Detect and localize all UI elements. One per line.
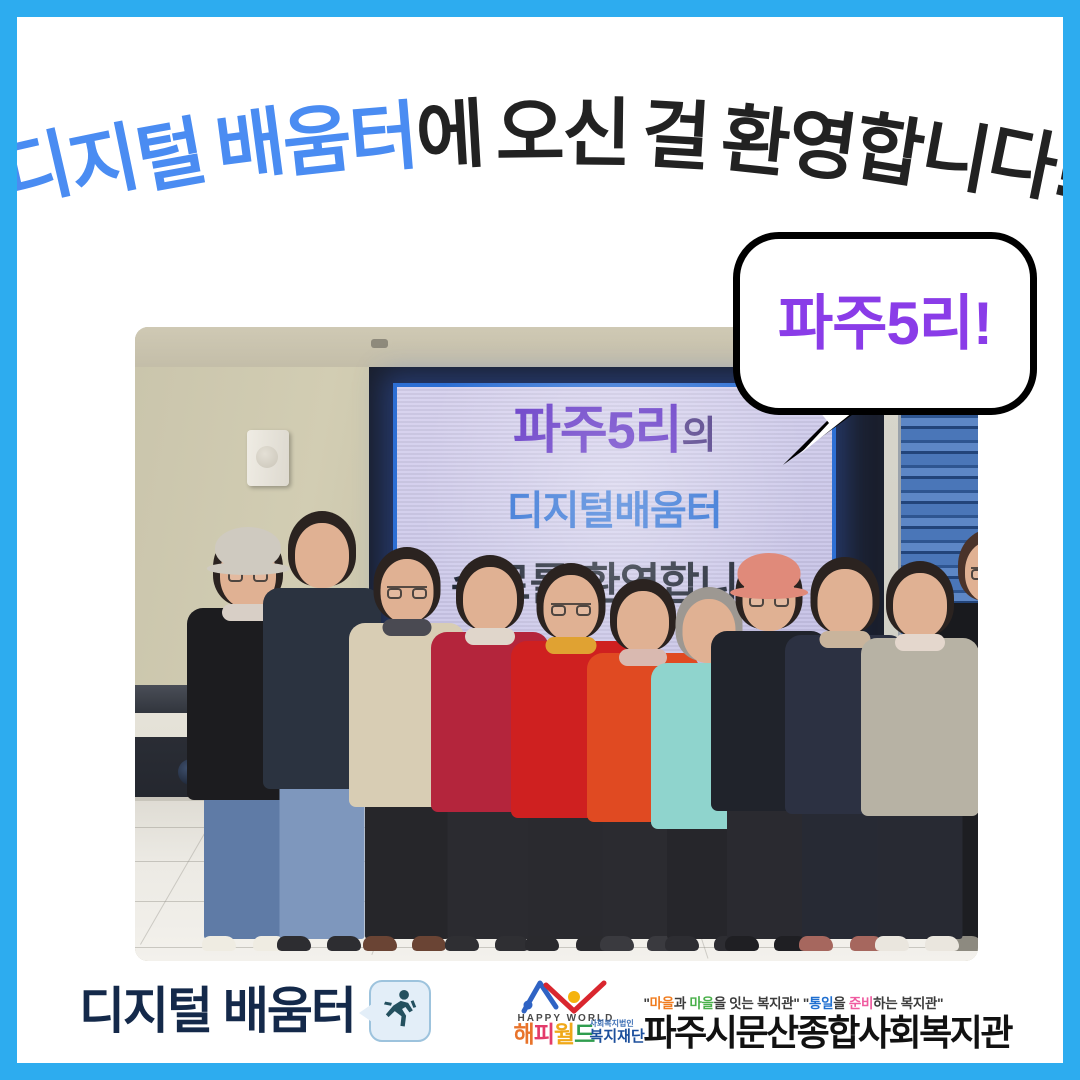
person-shoe	[665, 936, 699, 951]
headline-char: 니	[915, 113, 993, 199]
person-shoe	[277, 936, 311, 951]
smoke-detector-icon	[371, 339, 388, 348]
person-shoe	[799, 936, 833, 951]
speech-bubble-text: 파주5리!	[778, 294, 992, 354]
tagline-segment: 마을	[650, 996, 674, 1011]
headline-char: 디	[0, 126, 77, 214]
headline-char: 움	[279, 100, 353, 182]
headline-char: 배	[211, 104, 286, 187]
tagline-segment: 마을	[689, 996, 713, 1011]
headline-char	[628, 96, 643, 171]
headline-banner: 디지털 배움터에 오신 걸 환영합니다!	[17, 71, 1063, 203]
person-coat	[861, 638, 978, 816]
headline-char: 영	[783, 104, 858, 187]
headline-char: 합	[849, 108, 926, 192]
organization-name: 파주시문산종합사회복지관	[644, 1015, 1011, 1051]
person-shoe	[202, 936, 236, 951]
person-head	[463, 567, 517, 632]
person-legs	[878, 810, 963, 939]
wall-speaker	[247, 430, 289, 486]
person-shoe	[875, 936, 909, 951]
speech-bubble: 파주5리!	[733, 232, 1037, 415]
tagline-segment: 을	[833, 996, 849, 1011]
happy-world-korean: 해피월드	[514, 1023, 595, 1046]
headline-char	[705, 100, 723, 176]
poster-root: 디지털 배움터에 오신 걸 환영합니다! 파주5리의 디지털배움터 수료를 환영…	[0, 0, 1080, 1080]
person-figure	[861, 565, 978, 951]
person-scarf	[895, 634, 945, 651]
tagline-segment: 을 잇는 복지관" "	[714, 996, 809, 1011]
person-scarf	[383, 619, 432, 636]
person-head	[295, 523, 349, 588]
person-glasses	[387, 586, 427, 600]
person-shoe	[925, 936, 959, 951]
headline-char: !	[1047, 131, 1080, 209]
headline-char: 다	[981, 119, 1061, 206]
person-shoe	[525, 936, 559, 951]
organization-tagline: "마을과 마을을 잇는 복지관" "통일을 준비하는 복지관"	[644, 992, 944, 1012]
person-shoe	[600, 936, 634, 951]
headline-char: 털	[130, 113, 208, 199]
tagline-segment: 하는 복지관"	[873, 996, 943, 1011]
headline-char: 에	[414, 96, 484, 175]
person-head	[893, 573, 947, 638]
headline-char: 지	[63, 119, 143, 206]
person-scarf	[465, 628, 515, 645]
headline-char: 환	[717, 100, 791, 182]
digital-baeumteo-brand: 디지털 배움터	[79, 980, 431, 1042]
person-shoe	[363, 936, 397, 951]
headline-char	[198, 112, 221, 188]
happy-world-logo: HAPPY WORLD 해피월드 사회복지법인 복지재단	[512, 979, 634, 1051]
organization-name-block: "마을과 마을을 잇는 복지관" "통일을 준비하는 복지관" 파주시문산종합사…	[644, 992, 1011, 1051]
tagline-segment: 과	[674, 996, 690, 1011]
person-shoe	[725, 936, 759, 951]
welfare-foundation-label: 사회복지법인 복지재단	[590, 1019, 645, 1045]
running-person-icon	[369, 980, 431, 1042]
headline-char: 걸	[640, 96, 710, 175]
person-glasses	[551, 603, 591, 617]
tagline-segment: 준비	[849, 996, 873, 1011]
person-shoe	[445, 936, 479, 951]
page-title: 디지털 배움터에 오신 걸 환영합니다!	[17, 71, 1063, 203]
headline-char: 신	[562, 95, 629, 171]
headline-char: 터	[346, 98, 418, 178]
headline-char: 오	[495, 95, 562, 171]
tagline-segment: 통일	[809, 996, 833, 1011]
organization-footer: HAPPY WORLD 해피월드 사회복지법인 복지재단 "마을과 마을을 잇는…	[512, 979, 1011, 1051]
headline-char	[482, 96, 497, 171]
brand-name: 디지털 배움터	[79, 986, 355, 1036]
